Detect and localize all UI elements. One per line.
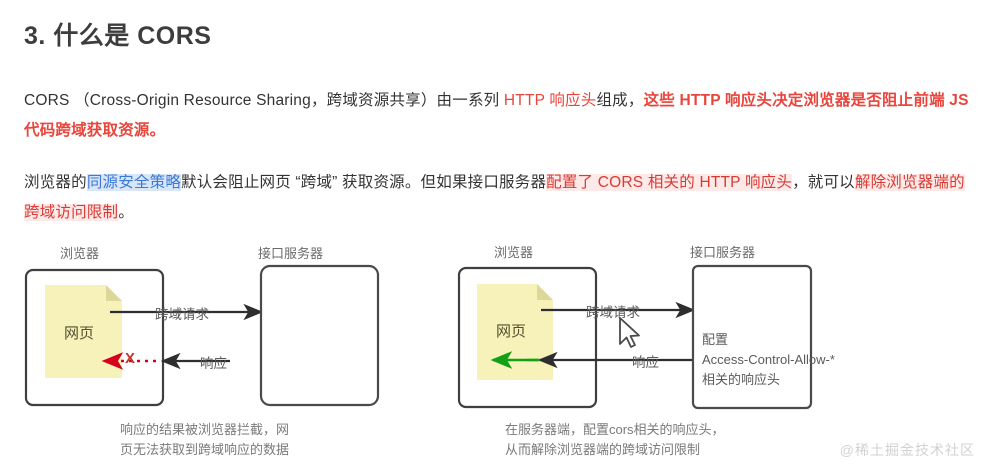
web-page-text-left: 网页 bbox=[64, 322, 94, 343]
caption-left-line2: 页无法获取到跨域响应的数据 bbox=[120, 440, 289, 460]
page-root: 3. 什么是 CORS CORS （Cross-Origin Resource … bbox=[0, 0, 989, 472]
mouse-cursor-icon bbox=[620, 318, 639, 347]
blocked-x-marker-left: X bbox=[125, 350, 135, 367]
p1-segment-red-http-headers: HTTP 响应头 bbox=[504, 92, 597, 109]
paragraph-cors-definition: CORS （Cross-Origin Resource Sharing，跨域资源… bbox=[24, 86, 969, 146]
p2-segment-plain-4: 。 bbox=[118, 204, 134, 221]
browser-title-left: 浏览器 bbox=[60, 243, 99, 262]
caption-left: 响应的结果被浏览器拦截，网 页无法获取到跨域响应的数据 bbox=[120, 420, 289, 460]
caption-right: 在服务器端，配置cors相关的响应头， 从而解除浏览器端的跨域访问限制 bbox=[505, 420, 725, 460]
caption-right-line2: 从而解除浏览器端的跨域访问限制 bbox=[505, 440, 725, 460]
web-page-note-fold-left bbox=[106, 285, 122, 301]
server-body-line-1: 配置 bbox=[702, 330, 835, 350]
response-label-right: 响应 bbox=[632, 351, 659, 371]
p2-segment-plain-1: 浏览器的 bbox=[24, 174, 87, 191]
web-page-text-right: 网页 bbox=[496, 320, 526, 341]
caption-left-line1: 响应的结果被浏览器拦截，网 bbox=[120, 420, 289, 440]
server-body-line-3: 相关的响应头 bbox=[702, 370, 835, 390]
server-body-line-2: Access-Control-Allow-* bbox=[702, 350, 835, 370]
api-server-title-right: 接口服务器 bbox=[690, 242, 755, 261]
cors-diagrams-illustration bbox=[0, 0, 989, 472]
page-title: 3. 什么是 CORS bbox=[24, 16, 211, 52]
p2-segment-highlight-cors-headers: 配置了 CORS 相关的 HTTP 响应头 bbox=[546, 174, 792, 191]
api-server-box-left bbox=[261, 266, 378, 405]
caption-right-line1: 在服务器端，配置cors相关的响应头， bbox=[505, 420, 725, 440]
paragraph-same-origin-policy: 浏览器的同源安全策略默认会阻止网页 “跨域” 获取资源。但如果接口服务器配置了 … bbox=[24, 168, 969, 228]
watermark: @稀土掘金技术社区 bbox=[840, 440, 975, 460]
web-page-note-fold-right bbox=[537, 284, 553, 300]
api-server-body-right: 配置 Access-Control-Allow-* 相关的响应头 bbox=[702, 330, 835, 390]
p2-segment-plain-2: 默认会阻止网页 “跨域” 获取资源。但如果接口服务器 bbox=[181, 174, 546, 191]
browser-box-left bbox=[26, 270, 163, 405]
p1-segment-plain-1: CORS （Cross-Origin Resource Sharing，跨域资源… bbox=[24, 92, 504, 109]
p1-segment-plain-2: 组成， bbox=[596, 92, 643, 109]
response-label-left: 响应 bbox=[200, 352, 227, 372]
browser-title-right: 浏览器 bbox=[494, 242, 533, 261]
request-label-left: 跨域请求 bbox=[155, 303, 209, 323]
api-server-title-left: 接口服务器 bbox=[258, 243, 323, 262]
p1-segment-plain-3: 。 bbox=[150, 122, 166, 139]
p2-segment-highlight-same-origin: 同源安全策略 bbox=[87, 174, 181, 191]
p2-segment-plain-3: ，就可以 bbox=[792, 174, 855, 191]
browser-box-right bbox=[459, 268, 596, 407]
request-label-right: 跨域请求 bbox=[586, 301, 640, 321]
